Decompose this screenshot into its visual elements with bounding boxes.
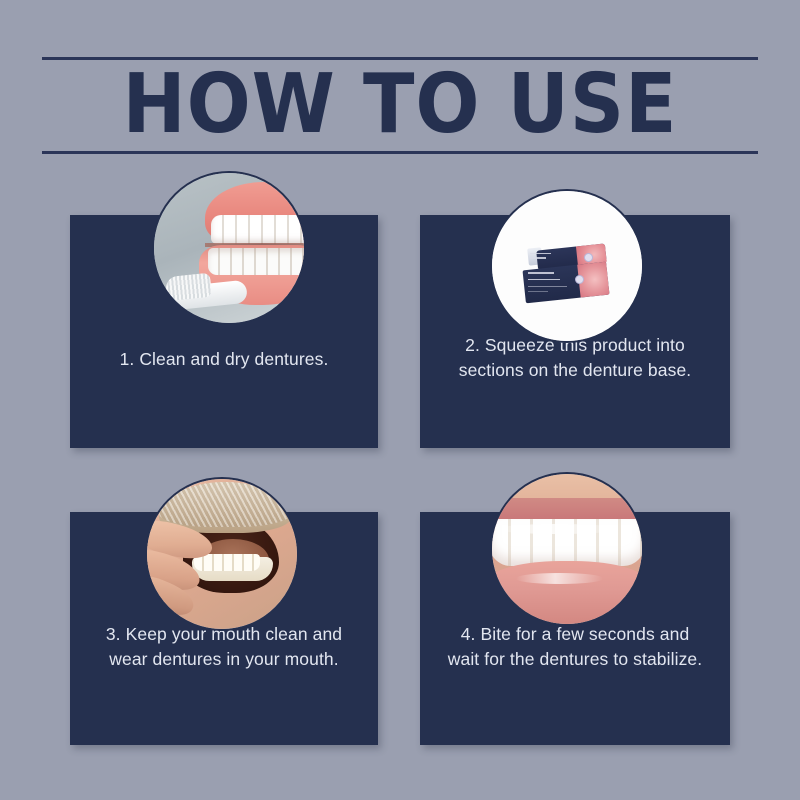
step-caption-4: 4. Bite for a few seconds and wait for t… bbox=[445, 622, 705, 672]
step-image-2-denture-adhesive-product bbox=[490, 189, 644, 343]
step-image-4-close-up-smile bbox=[490, 472, 644, 626]
step-image-3-inserting-denture-into-mouth bbox=[145, 477, 299, 631]
title-rule-bottom bbox=[42, 151, 758, 154]
step-image-1-denture-model-with-toothbrush bbox=[152, 171, 306, 325]
header: HOW TO USE bbox=[0, 0, 800, 175]
step-caption-1: 1. Clean and dry dentures. bbox=[95, 347, 354, 372]
page-title: HOW TO USE bbox=[32, 62, 768, 148]
